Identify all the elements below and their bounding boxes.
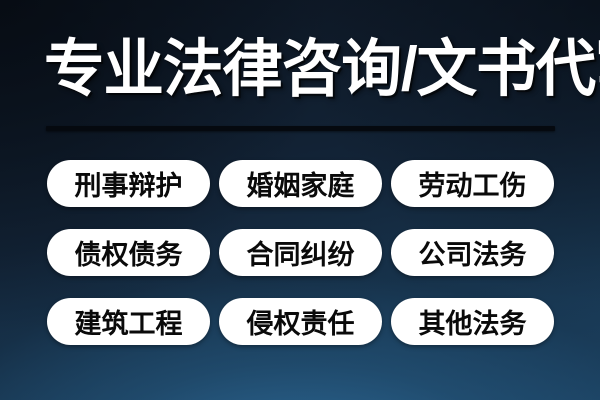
service-pill-other-legal[interactable]: 其他法务: [391, 298, 554, 345]
headline-divider: [46, 126, 555, 131]
service-row: 建筑工程 侵权责任 其他法务: [47, 298, 554, 345]
service-pill-corporate-legal[interactable]: 公司法务: [391, 229, 554, 276]
legal-services-poster: 专业法律咨询/文书代写 刑事辩护 婚姻家庭 劳动工伤 债权债务 合同纠纷 公司法…: [0, 0, 600, 400]
service-pill-creditor-debt[interactable]: 债权债务: [47, 229, 210, 276]
service-pill-criminal-defense[interactable]: 刑事辩护: [47, 160, 210, 207]
service-pill-labor-injury[interactable]: 劳动工伤: [391, 160, 554, 207]
service-pill-marriage-family[interactable]: 婚姻家庭: [219, 160, 382, 207]
poster-content: 专业法律咨询/文书代写 刑事辩护 婚姻家庭 劳动工伤 债权债务 合同纠纷 公司法…: [0, 0, 600, 400]
service-row: 债权债务 合同纠纷 公司法务: [47, 229, 554, 276]
service-row: 刑事辩护 婚姻家庭 劳动工伤: [47, 160, 554, 207]
service-pill-construction-engineering[interactable]: 建筑工程: [47, 298, 210, 345]
service-pill-contract-dispute[interactable]: 合同纠纷: [219, 229, 382, 276]
service-pill-grid: 刑事辩护 婚姻家庭 劳动工伤 债权债务 合同纠纷 公司法务 建筑工程 侵权责任 …: [47, 160, 554, 345]
poster-headline: 专业法律咨询/文书代写: [44, 24, 546, 116]
service-pill-tort-liability[interactable]: 侵权责任: [219, 298, 382, 345]
